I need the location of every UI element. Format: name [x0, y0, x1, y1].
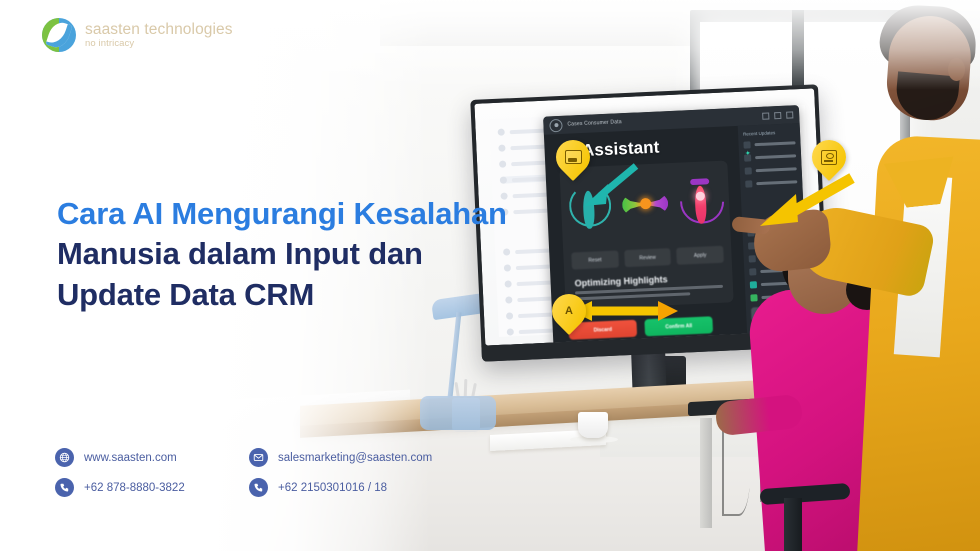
sidebar-title: Recent Updates: [743, 129, 795, 136]
maximize-icon[interactable]: [774, 111, 781, 118]
pill-apply[interactable]: Apply: [676, 246, 723, 265]
contact-website-text: www.saasten.com: [84, 452, 177, 464]
brand-logo-text: saasten technologies no intricacy: [85, 22, 233, 49]
record-icon: [749, 268, 756, 275]
app-title: Cases Consumer Data: [567, 119, 622, 127]
minimize-icon[interactable]: [762, 112, 769, 119]
banner-canvas: Cases Consumer Data ⋮ AI Assistant: [0, 0, 980, 551]
presentation-icon: [563, 147, 583, 167]
record-icon: [745, 167, 752, 174]
sidebar-item-label: [754, 141, 795, 146]
sparkle-icon: ✦: [745, 149, 751, 157]
sidebar-item-client-database[interactable]: [743, 139, 795, 148]
chair-post: [784, 498, 802, 551]
contact-email[interactable]: salesmarketing@saasten.com: [249, 448, 432, 467]
desk-leg: [700, 418, 712, 528]
headline-line-1: Cara AI Mengurangi Kesalahan: [57, 194, 577, 234]
phone-icon: [55, 478, 74, 497]
sidebar-dot: [500, 176, 507, 183]
desk-lamp-base: [420, 396, 496, 430]
sidebar-dot: [498, 144, 505, 151]
pill-reset[interactable]: Reset: [571, 250, 618, 269]
window-controls[interactable]: [762, 111, 793, 119]
sidebar-item-pipeline[interactable]: [744, 152, 796, 161]
page-title: Cara AI Mengurangi Kesalahan Manusia dal…: [57, 194, 577, 315]
record-icon: [749, 255, 756, 262]
man-ear: [948, 58, 965, 81]
contact-phone-mobile[interactable]: +62 878-8880-3822: [55, 478, 223, 497]
contact-email-text: salesmarketing@saasten.com: [278, 452, 432, 464]
pink-arc-glyph: [677, 177, 725, 229]
sidebar-item-label: [755, 154, 796, 159]
contact-phone-office-text: +62 2150301016 / 18: [278, 482, 387, 494]
arrow-teal: [578, 160, 640, 210]
sidebar-dot: [498, 129, 505, 136]
headline-line-2: Manusia dalam Input dan: [57, 234, 577, 274]
app-circle-icon: [549, 118, 563, 132]
coffee-cup: [578, 412, 608, 438]
record-icon-teal: [750, 281, 757, 288]
pill-review[interactable]: Review: [624, 248, 671, 267]
document-person-icon: [819, 147, 839, 167]
saasten-circle-logo: [42, 18, 76, 52]
phone-icon: [249, 478, 268, 497]
contact-website[interactable]: www.saasten.com: [55, 448, 223, 467]
brand-tagline: no intricacy: [85, 39, 233, 49]
contact-phone-office[interactable]: +62 2150301016 / 18: [249, 478, 432, 497]
envelope-icon: [249, 448, 268, 467]
contact-phone-mobile-text: +62 878-8880-3822: [84, 482, 185, 494]
record-icon-green: [750, 294, 757, 301]
arrow-yellow-sidebar: [752, 170, 856, 232]
sidebar-dot: [507, 328, 514, 335]
close-icon[interactable]: [786, 111, 793, 118]
glyph-action-pills: Reset Review Apply: [571, 246, 724, 270]
globe-icon: [55, 448, 74, 467]
brand-logo[interactable]: saasten technologies no intricacy: [42, 18, 233, 52]
contact-info: www.saasten.com salesmarketing@saasten.c…: [55, 448, 432, 497]
brand-name: saasten technologies: [85, 22, 233, 38]
sidebar-dot: [499, 160, 506, 167]
headline-line-3: Update Data CRM: [57, 275, 577, 315]
record-icon: [743, 141, 750, 148]
